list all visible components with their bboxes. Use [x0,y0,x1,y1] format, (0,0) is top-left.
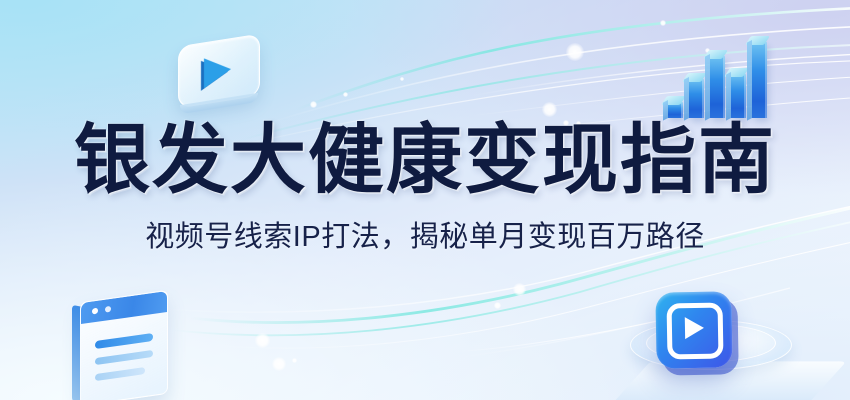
page-title: 银发大健康变现指南 [0,118,850,204]
promo-banner: 银发大健康变现指南 视频号线索IP打法，揭秘单月变现百万路径 [0,0,850,400]
bar-chart-decoration [662,32,772,118]
headline-block: 银发大健康变现指南 视频号线索IP打法，揭秘单月变现百万路径 [0,118,850,254]
card-body [80,290,168,400]
content-line [95,367,145,381]
video-app-play-icon [655,291,732,368]
round-pedestal [612,290,808,400]
browser-window-icon [80,290,168,400]
chart-bar [752,42,767,118]
chart-bar [689,79,704,118]
content-line [95,333,153,349]
glass-play-card [178,34,260,109]
content-line [95,350,153,365]
chart-bar [731,74,746,118]
chart-bar [668,102,683,118]
play-triangle-icon [204,54,231,88]
page-subtitle: 视频号线索IP打法，揭秘单月变现百万路径 [0,220,850,254]
play-triangle-icon [685,317,704,339]
chart-bar [710,56,725,118]
